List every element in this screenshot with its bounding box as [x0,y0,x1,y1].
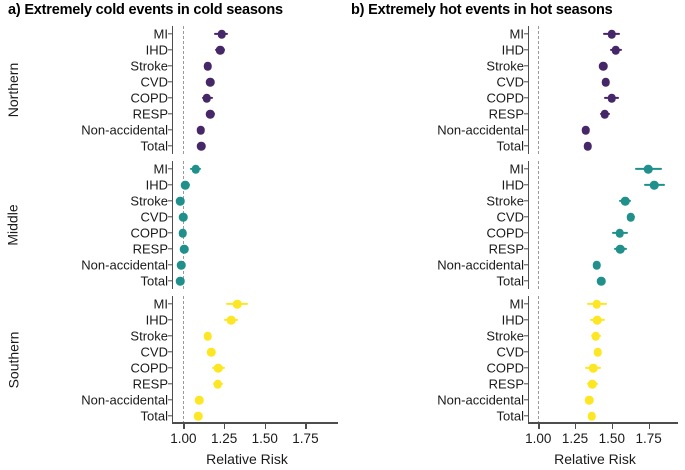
x-axis-tick-label: 1.50 [599,431,625,446]
y-axis-label-resp: RESP [0,242,524,257]
x-axis-tick-label: 1.00 [525,431,551,446]
y-axis-label-cvd: CVD [0,345,524,360]
x-axis-tick [612,424,613,429]
data-point-mi [644,165,653,174]
y-axis-label-mi: MI [0,162,524,177]
x-axis-title-b: Relative Risk [554,451,636,467]
x-axis-tick [305,424,306,429]
y-axis-label-ihd: IHD [0,43,524,58]
x-axis-title-a: Relative Risk [206,451,288,467]
y-axis-label-stroke: Stroke [0,194,524,209]
x-axis-tick [265,424,266,429]
data-point-total [587,412,596,421]
y-axis-label-copd: COPD [0,226,524,241]
panel-a-title: a) Extremely cold events in cold seasons [8,2,340,18]
data-point-total [597,277,606,286]
x-axis-tick-label: 1.50 [252,431,278,446]
y-axis-label-mi: MI [0,297,524,312]
x-axis-tick-label: 1.25 [562,431,588,446]
facet-b-southern [528,296,678,424]
y-axis-label-stroke: Stroke [0,59,524,74]
x-axis-tick-label: 1.25 [211,431,237,446]
data-point-ihd [650,181,659,190]
data-point-copd [607,94,616,103]
data-point-ihd [611,46,620,55]
x-axis-tick-label: 1.75 [635,431,661,446]
y-axis-label-ihd: IHD [0,178,524,193]
panel-b-title: b) Extremely hot events in hot seasons [351,2,683,18]
data-point-resp [588,380,597,389]
reference-line [538,161,539,289]
plot-area [528,26,678,154]
x-axis-tick-label: 1.75 [292,431,318,446]
x-axis-line [528,422,678,424]
x-axis-tick [649,424,650,429]
data-point-stroke [621,197,630,206]
x-axis-tick [183,424,184,429]
reference-line [538,296,539,424]
x-axis-tick-label: 1.00 [170,431,196,446]
y-axis-label-total: Total [0,139,524,154]
data-point-copd [616,229,625,238]
y-axis-label-copd: COPD [0,91,524,106]
x-axis-tick [575,424,576,429]
y-axis-label-cvd: CVD [0,210,524,225]
data-point-stroke [592,332,601,341]
data-point-non-accidental [585,396,594,405]
y-axis-label-non-accidental: Non-accidental [0,123,524,138]
data-point-cvd [594,348,603,357]
y-axis-label-mi: MI [0,27,524,42]
y-axis-label-total: Total [0,409,524,424]
x-axis-tick [224,424,225,429]
facet-b-northern [528,26,678,154]
y-axis-label-non-accidental: Non-accidental [0,393,524,408]
plot-area [528,296,678,424]
data-point-mi [608,30,617,39]
data-point-non-accidental [593,261,602,270]
data-point-resp [616,245,625,254]
data-point-cvd [626,213,635,222]
y-axis-label-non-accidental: Non-accidental [0,258,524,273]
y-axis-label-total: Total [0,274,524,289]
data-point-mi [593,300,602,309]
y-axis-label-ihd: IHD [0,313,524,328]
y-axis-label-cvd: CVD [0,75,524,90]
data-point-resp [601,110,610,119]
x-axis-tick [538,424,539,429]
forest-plot-figure: a) Extremely cold events in cold seasons… [0,0,685,470]
data-point-ihd [593,316,602,325]
data-point-copd [589,364,598,373]
y-axis-label-resp: RESP [0,107,524,122]
y-axis-label-copd: COPD [0,361,524,376]
reference-line [538,26,539,154]
y-axis-label-stroke: Stroke [0,329,524,344]
data-point-total [583,142,592,151]
y-axis-label-resp: RESP [0,377,524,392]
data-point-cvd [601,78,610,87]
facet-b-middle [528,161,678,289]
data-point-non-accidental [581,126,590,135]
data-point-stroke [599,62,608,71]
